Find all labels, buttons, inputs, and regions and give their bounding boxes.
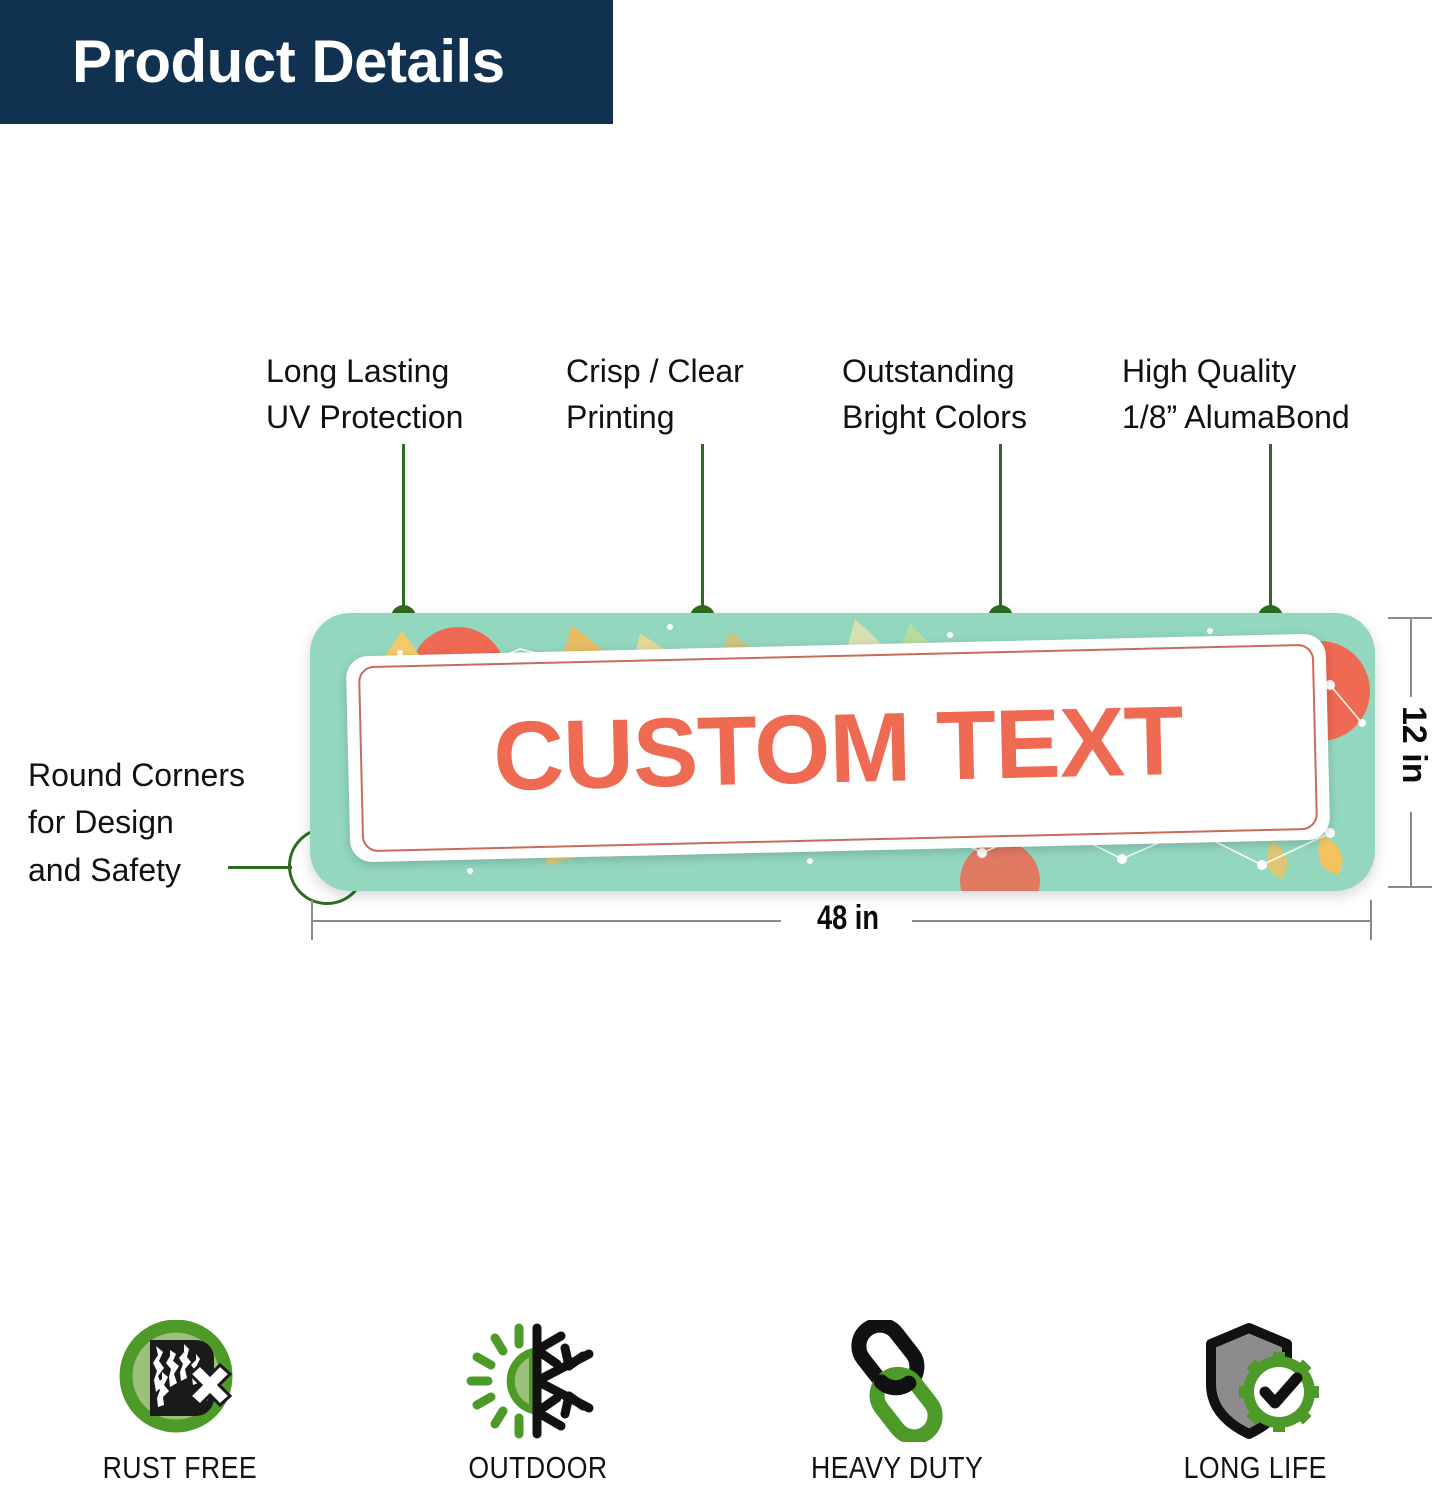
callout-leader-round-corners [228,866,292,869]
dim-line-height-upper [1410,617,1412,697]
sign-text-plate: CUSTOM TEXT [346,633,1331,862]
dim-label-width: 48 in [804,899,892,938]
callout-label-alumabond: High Quality 1/8” AlumaBond [1122,348,1350,441]
callout-stem-uv-protection [402,444,405,617]
feature-long-life: LONG LIFE [1076,1320,1435,1500]
header-banner: Product Details [0,0,613,124]
dim-label-height: 12 in [1394,706,1433,783]
feature-rust-free: RUST FREE [0,1320,359,1500]
callout-stem-bright-colors [999,444,1002,617]
callout-label-bright-colors: Outstanding Bright Colors [842,348,1027,441]
feature-heavy-duty: HEAVY DUTY [718,1320,1077,1500]
feature-label-heavy-duty: HEAVY DUTY [811,1450,983,1486]
sign-custom-text: CUSTOM TEXT [492,691,1184,805]
callout-label-round-corners: Round Corners for Design and Safety [28,752,245,894]
sign-preview: CUSTOM TEXT [310,613,1375,891]
chain-link-icon [822,1320,972,1442]
callout-stem-alumabond [1269,444,1272,617]
shield-clock-check-icon [1181,1320,1331,1442]
page-title: Product Details [0,32,505,92]
sun-snowflake-icon [463,1320,613,1442]
callout-label-uv-protection: Long Lasting UV Protection [266,348,463,441]
feature-label-long-life: LONG LIFE [1184,1450,1327,1486]
feature-label-outdoor: OUTDOOR [468,1450,607,1486]
feature-label-rust-free: RUST FREE [102,1450,256,1486]
callout-label-crisp-printing: Crisp / Clear Printing [566,348,744,441]
dim-line-height-lower [1410,812,1412,887]
rust-free-icon [104,1320,254,1442]
dim-line-width-left [311,920,781,922]
feature-outdoor: OUTDOOR [359,1320,718,1500]
feature-badges: RUST FREE [0,1320,1435,1500]
product-details-infographic: Product Details Long Lasting UV Protecti… [0,0,1435,1500]
dim-line-width-right [912,920,1371,922]
callout-stem-crisp-printing [701,444,704,617]
